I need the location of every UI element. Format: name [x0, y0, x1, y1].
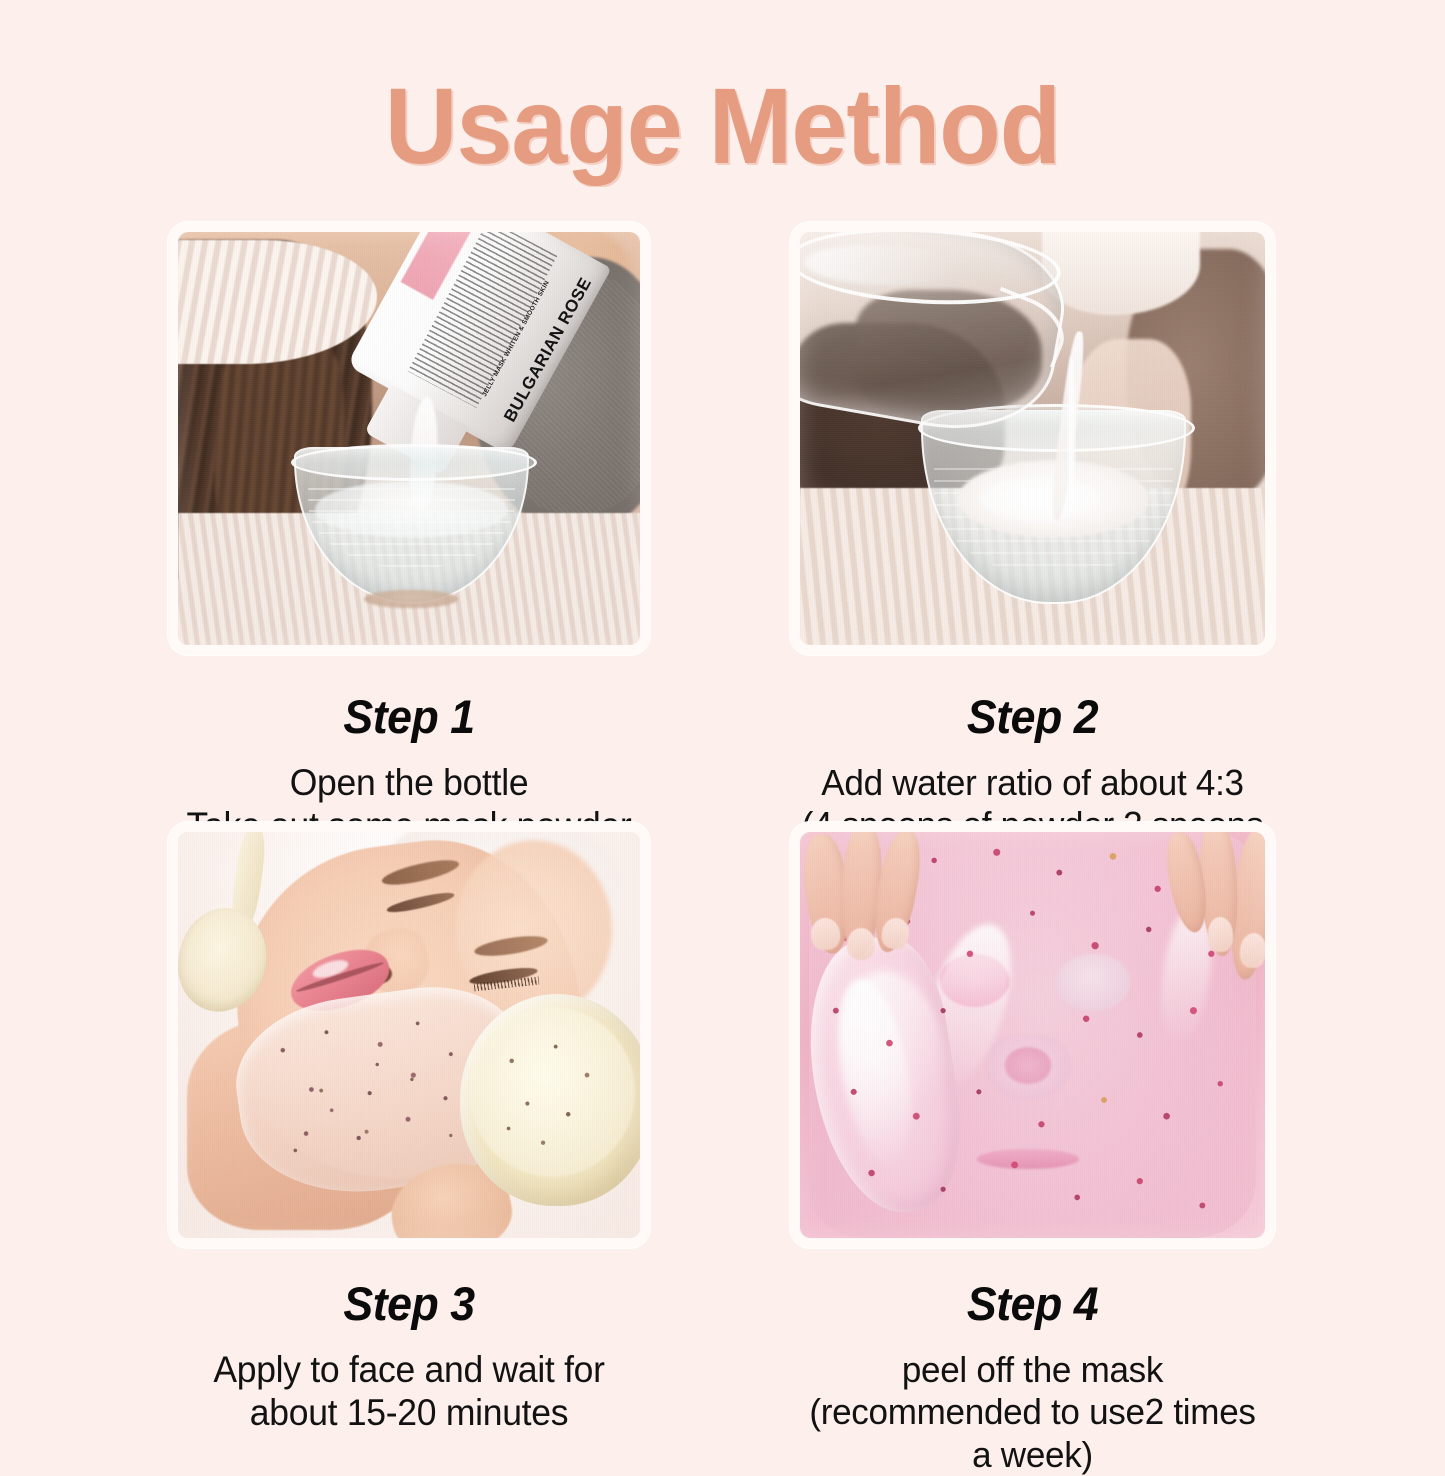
photo-hands-peeling-off-pink-jelly-mask — [800, 832, 1265, 1238]
step-3-description: Apply to face and wait for about 15-20 m… — [178, 1349, 641, 1435]
infographic-page: Usage Method BULGARIAN ROSE JELLY MASK W… — [0, 0, 1445, 1445]
photo-woman-with-mask-applied-to-face — [178, 832, 640, 1238]
step-1-photo-frame: BULGARIAN ROSE JELLY MASK WHITEN & SMOOT… — [168, 222, 650, 655]
step-3-label: Step 3 — [180, 1280, 638, 1327]
step-2-label: Step 2 — [802, 693, 1263, 740]
step-1-label: Step 1 — [180, 693, 638, 740]
photo-bottle-pouring-powder-into-bowl: BULGARIAN ROSE JELLY MASK WHITEN & SMOOT… — [178, 232, 640, 645]
photo-pitcher-pouring-water-into-powder-bowl — [800, 232, 1265, 645]
step-card-4: Step 4 peel off the mask (recommended to… — [790, 822, 1275, 1476]
step-card-3: Step 3 Apply to face and wait for about … — [168, 822, 650, 1435]
step-card-2: Step 2 Add water ratio of about 4:3 (4 s… — [790, 222, 1275, 889]
right-hand — [1144, 832, 1265, 1019]
step-2-photo-frame — [790, 222, 1275, 655]
step-3-photo-frame — [168, 822, 650, 1248]
step-card-1: BULGARIAN ROSE JELLY MASK WHITEN & SMOOT… — [168, 222, 650, 848]
page-title: Usage Method — [51, 72, 1395, 180]
glass-bowl — [294, 447, 530, 604]
left-hand — [800, 832, 940, 986]
step-4-caption: Step 4 peel off the mask (recommended to… — [790, 1280, 1275, 1476]
step-3-caption: Step 3 Apply to face and wait for about … — [168, 1280, 650, 1435]
step-4-description: peel off the mask (recommended to use2 t… — [800, 1349, 1266, 1476]
step-4-label: Step 4 — [802, 1280, 1263, 1327]
step-4-photo-frame — [790, 822, 1275, 1248]
